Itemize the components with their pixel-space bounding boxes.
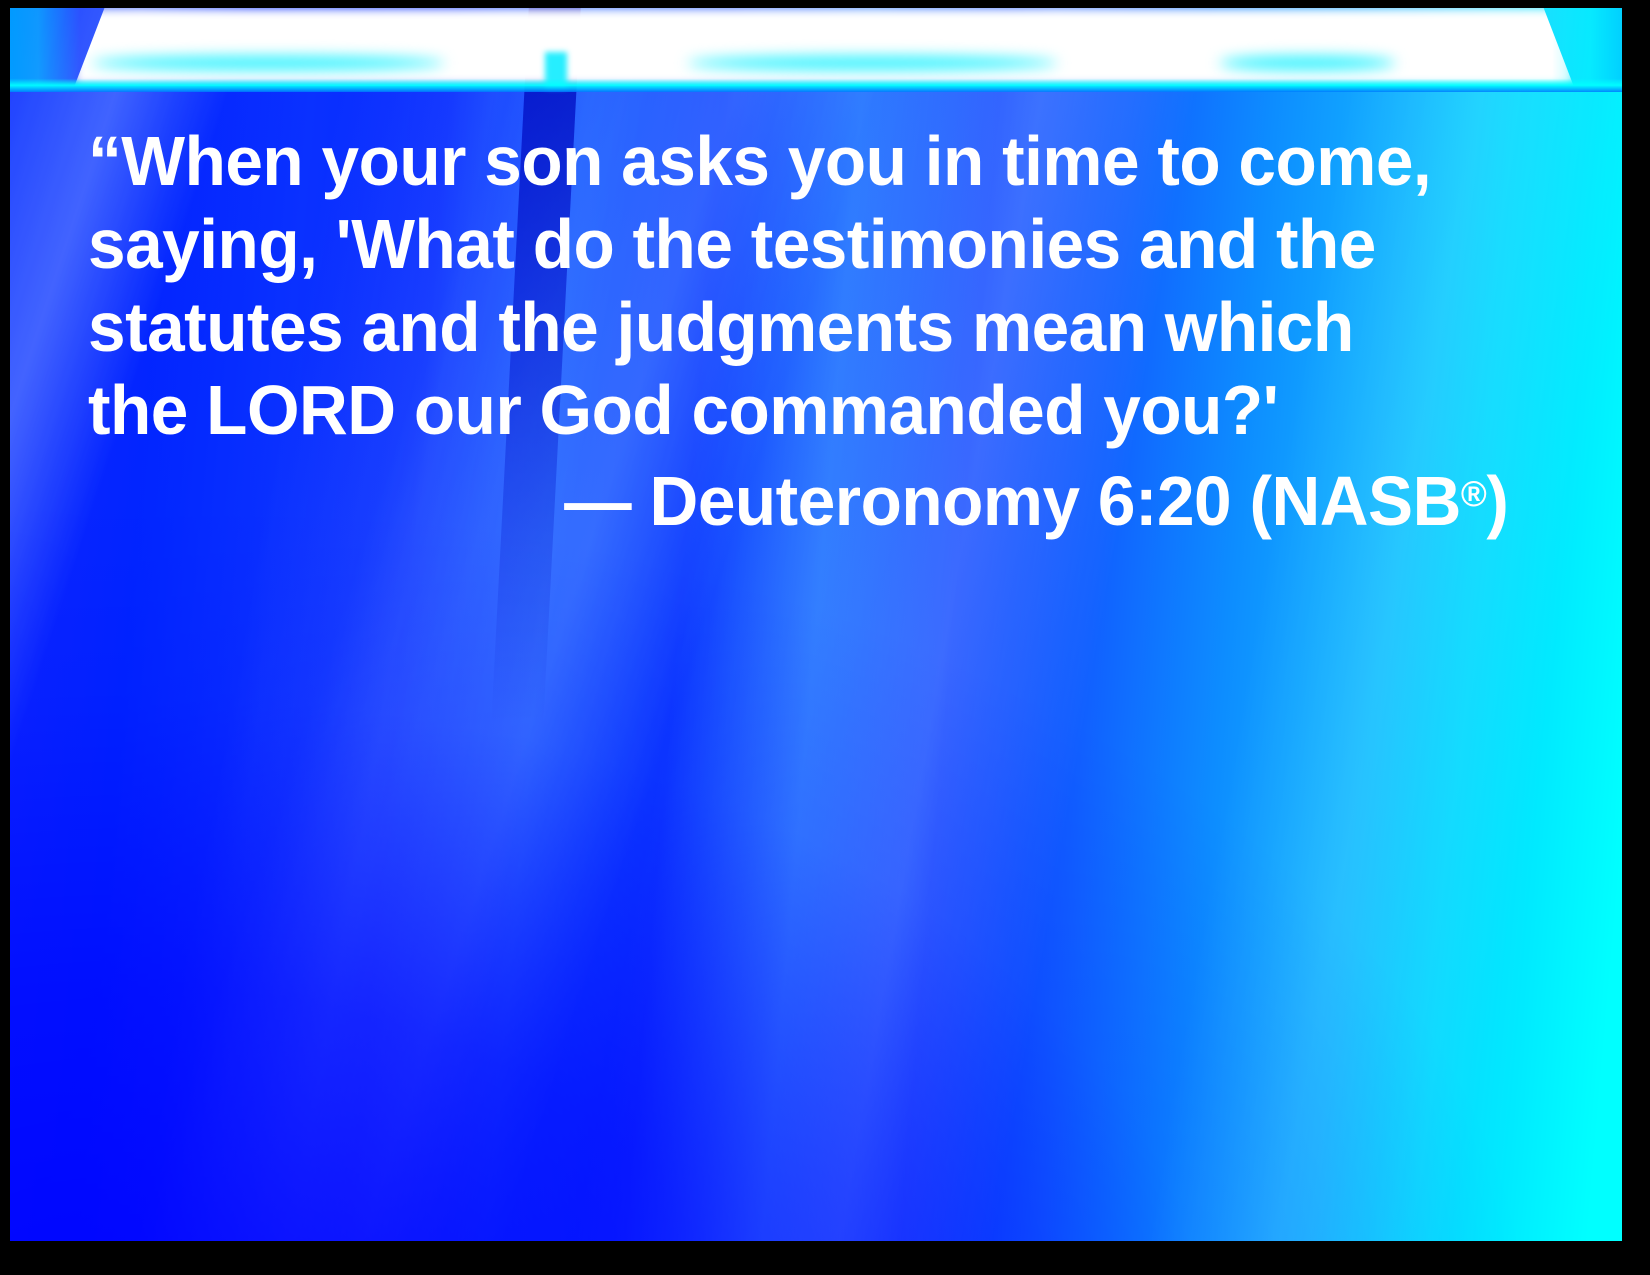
attribution-reference: Deuteronomy 6:20 [650, 462, 1232, 540]
verse-text-block: “When your son asks you in time to come,… [88, 120, 1518, 543]
verse-line-2: saying, 'What do the testimonies and the [88, 203, 1468, 286]
slide-canvas: “When your son asks you in time to come,… [10, 8, 1622, 1241]
attribution-dash: — [564, 462, 631, 540]
verse-line-1: “When your son asks you in time to come, [88, 120, 1468, 203]
glow-bottom-edge [10, 8, 1622, 92]
slide-frame: “When your son asks you in time to come,… [0, 0, 1650, 1275]
verse-line-3: statutes and the judgments mean which [88, 286, 1468, 369]
attribution-translation-open: (NASB [1249, 462, 1460, 540]
verse-attribution: — Deuteronomy 6:20 (NASB®) [138, 452, 1518, 543]
attribution-translation-close: ) [1486, 462, 1508, 540]
registered-trademark-icon: ® [1461, 473, 1486, 514]
verse-line-4: the LORD our God commanded you?' [88, 369, 1468, 452]
top-glow-band [10, 8, 1622, 92]
